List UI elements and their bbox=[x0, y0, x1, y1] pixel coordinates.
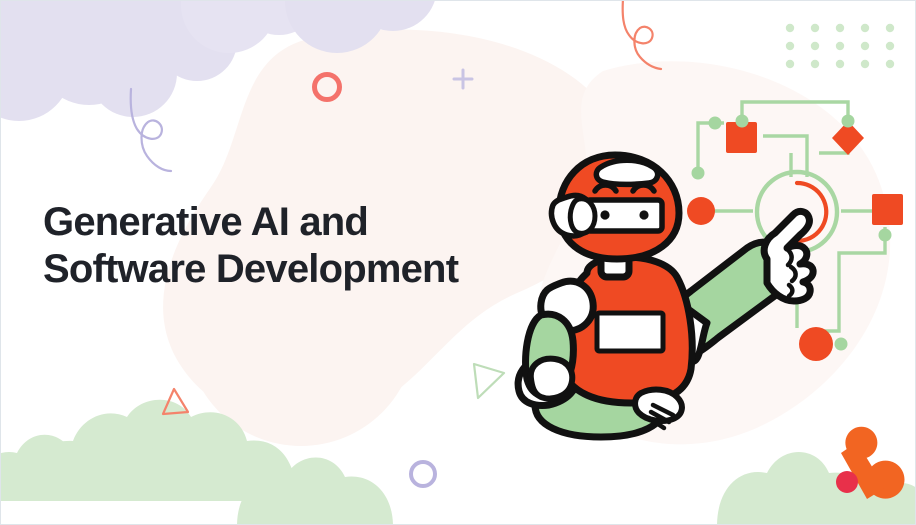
robot-eyebrows bbox=[595, 185, 654, 191]
target-ring-inner bbox=[781, 183, 826, 241]
circuit-node-dots bbox=[692, 115, 892, 351]
lavender-cloud-secondary bbox=[181, 1, 321, 53]
triangle-outline-green-icon bbox=[474, 364, 504, 398]
robot-shoulder-left bbox=[541, 281, 593, 331]
lavender-cloud-tertiary bbox=[285, 1, 437, 53]
swirl-squiggle-coral-icon bbox=[623, 1, 661, 69]
robot-foot bbox=[518, 356, 577, 406]
green-cloud-right-ext bbox=[807, 468, 916, 525]
green-cloud-right bbox=[717, 452, 879, 525]
green-cloud-left-ext bbox=[131, 424, 283, 501]
robot-arm-raised bbox=[669, 242, 790, 356]
molecule-accent-dot bbox=[836, 471, 858, 493]
robot-ear-inner bbox=[570, 199, 595, 234]
robot-chest-panel bbox=[597, 313, 663, 351]
triangle-outline-coral-icon bbox=[163, 389, 188, 414]
plus-mark-icon bbox=[454, 70, 472, 88]
circuit-node-diamond bbox=[832, 121, 864, 155]
hero-banner: Generative AI and Software Development bbox=[0, 0, 916, 525]
robot-resting-hand bbox=[635, 390, 682, 421]
robot-hand-fingers bbox=[649, 405, 673, 428]
robot-visor bbox=[586, 200, 662, 231]
robot-eye-left bbox=[600, 210, 609, 219]
robot-hand-finger-lines bbox=[787, 249, 796, 296]
circuit-node-square-top bbox=[726, 122, 757, 153]
robot-pointing-hand bbox=[764, 211, 813, 301]
green-cloud-center bbox=[237, 458, 393, 525]
lavender-cloud bbox=[1, 1, 237, 121]
robot-arm-left bbox=[526, 314, 574, 396]
ring-outline-coral-icon bbox=[315, 75, 340, 100]
blush-blob-right bbox=[536, 61, 890, 444]
robot-shoulder-right bbox=[673, 301, 707, 362]
green-cloud-farleft bbox=[1, 435, 107, 501]
robot-ear-left bbox=[552, 195, 593, 235]
page-title: Generative AI and Software Development bbox=[43, 199, 513, 293]
green-cloud-left bbox=[19, 400, 297, 501]
robot-neck bbox=[601, 245, 629, 277]
robot-leg bbox=[535, 369, 665, 437]
molecule-shape bbox=[836, 427, 904, 499]
page-title-line-2: Software Development bbox=[43, 246, 513, 293]
robot-helmet-crest bbox=[596, 160, 657, 184]
page-title-line-1: Generative AI and bbox=[43, 199, 513, 246]
circuit-node-circle-bottom bbox=[799, 327, 833, 361]
robot-torso bbox=[559, 257, 692, 403]
circuit-node-circle-left bbox=[687, 197, 715, 225]
dot-grid bbox=[786, 24, 894, 68]
robot-head bbox=[559, 155, 679, 259]
circuit-node-square-right bbox=[872, 194, 903, 225]
robot-eye-right bbox=[639, 210, 648, 219]
target-ring-outer bbox=[757, 172, 837, 252]
swirl-squiggle-icon bbox=[131, 89, 171, 171]
robot-forearm-left bbox=[531, 359, 572, 399]
ring-outline-lavender-icon bbox=[411, 462, 435, 486]
circuit-traces bbox=[698, 102, 885, 331]
